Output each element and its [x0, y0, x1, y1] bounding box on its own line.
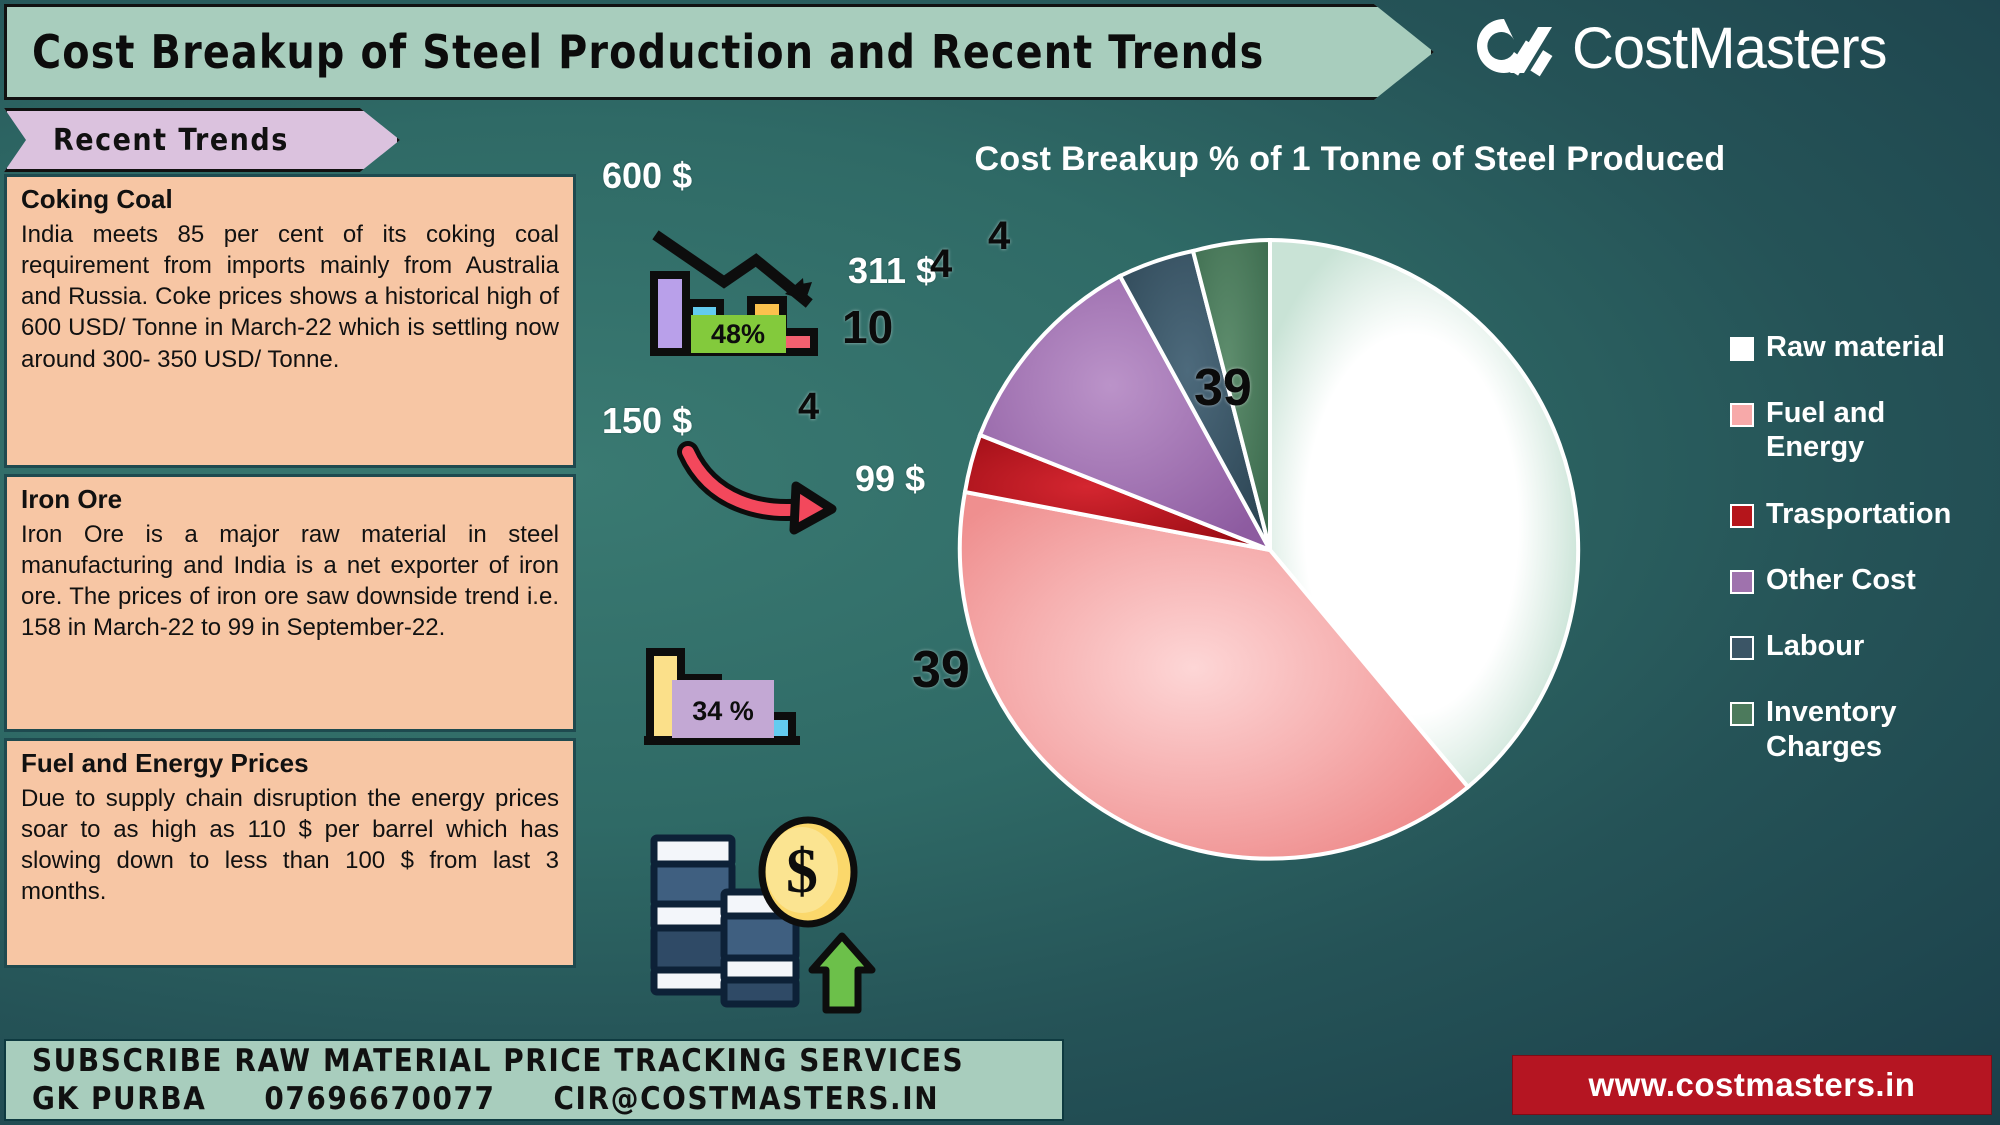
footer-subscribe-band: SUBSCRIBE RAW MATERIAL PRICE TRACKING SE…: [4, 1039, 1064, 1121]
card-fuel-and-energy-prices: Fuel and Energy Prices Due to supply cha…: [4, 738, 576, 968]
website-badge[interactable]: www.costmasters.in: [1512, 1055, 1992, 1115]
card-title: Iron Ore: [21, 485, 559, 515]
brand-logo: CostMasters: [1460, 6, 1990, 90]
costmasters-c-slash-logo-icon: [1460, 11, 1556, 85]
ribbon-label: Recent Trends: [7, 123, 289, 158]
legend-label: Trasportation: [1766, 497, 1951, 531]
pie-chart-svg: [920, 200, 1620, 900]
infographic-canvas: Cost Breakup of Steel Production and Rec…: [0, 0, 2000, 1125]
oil-barrels-dollar-coin-icon: $: [640, 810, 890, 1020]
legend-swatch-icon: [1730, 403, 1754, 427]
card-coking-coal: Coking Coal India meets 85 per cent of i…: [4, 174, 576, 468]
legend-item-other-cost[interactable]: Other Cost: [1730, 563, 1990, 597]
card-body: Iron Ore is a major raw material in stee…: [21, 519, 559, 644]
footer-subscribe-text: SUBSCRIBE RAW MATERIAL PRICE TRACKING SE…: [32, 1043, 1062, 1079]
card-title: Coking Coal: [21, 185, 559, 215]
legend-label: Labour: [1766, 629, 1864, 663]
card-body: India meets 85 per cent of its coking co…: [21, 219, 559, 375]
pie-value-other-cost: 10: [842, 300, 893, 354]
website-url: www.costmasters.in: [1589, 1066, 1916, 1104]
page-title: Cost Breakup of Steel Production and Rec…: [7, 25, 1264, 79]
card-iron-ore: Iron Ore Iron Ore is a major raw materia…: [4, 474, 576, 732]
footer-contact-phone: 07696670077: [264, 1081, 495, 1117]
legend-swatch-icon: [1730, 504, 1754, 528]
header-banner: Cost Breakup of Steel Production and Rec…: [4, 4, 1434, 100]
legend-label: Inventory Charges: [1766, 695, 1990, 763]
pie-chart-legend: Raw material Fuel and Energy Trasportati…: [1730, 330, 1990, 796]
footer-contact-row: GK PURBA 07696670077 CIR@COSTMASTERS.IN: [32, 1081, 1062, 1117]
recent-trends-ribbon: Recent Trends: [4, 108, 400, 172]
legend-label: Fuel and Energy: [1766, 396, 1990, 464]
pie-chart: 39 39 4 10 4 4: [920, 200, 1620, 900]
brand-name: CostMasters: [1572, 15, 1887, 82]
legend-swatch-icon: [1730, 337, 1754, 361]
legend-swatch-icon: [1730, 570, 1754, 594]
card-title: Fuel and Energy Prices: [21, 749, 559, 779]
legend-swatch-icon: [1730, 702, 1754, 726]
legend-item-trasportation[interactable]: Trasportation: [1730, 497, 1990, 531]
pie-value-raw-material: 39: [1194, 358, 1252, 418]
recent-trends-cards: Coking Coal India meets 85 per cent of i…: [4, 174, 604, 974]
pie-value-fuel-and-energy: 39: [912, 640, 970, 700]
legend-item-labour[interactable]: Labour: [1730, 629, 1990, 663]
red-curved-arrow-icon: [600, 430, 900, 600]
coking-coal-badge: 48%: [711, 319, 765, 349]
footer-contact-name: GK PURBA: [32, 1081, 206, 1117]
legend-label: Raw material: [1766, 330, 1945, 364]
legend-label: Other Cost: [1766, 563, 1916, 597]
pie-chart-title: Cost Breakup % of 1 Tonne of Steel Produ…: [940, 140, 1760, 179]
legend-item-inventory-charges[interactable]: Inventory Charges: [1730, 695, 1990, 763]
pie-value-labour: 4: [930, 242, 952, 287]
legend-swatch-icon: [1730, 636, 1754, 660]
bar-chart-iron-ore-icon: 34 %: [600, 600, 900, 780]
footer-contact-email: CIR@COSTMASTERS.IN: [553, 1081, 939, 1117]
legend-item-fuel-and-energy[interactable]: Fuel and Energy: [1730, 396, 1990, 464]
card-body: Due to supply chain disruption the energ…: [21, 783, 559, 908]
legend-item-raw-material[interactable]: Raw material: [1730, 330, 1990, 364]
iron-ore-badge: 34 %: [692, 696, 754, 726]
pie-value-inventory-charges: 4: [988, 214, 1010, 259]
pie-value-trasportation: 4: [798, 386, 819, 429]
svg-text:$: $: [786, 835, 818, 906]
